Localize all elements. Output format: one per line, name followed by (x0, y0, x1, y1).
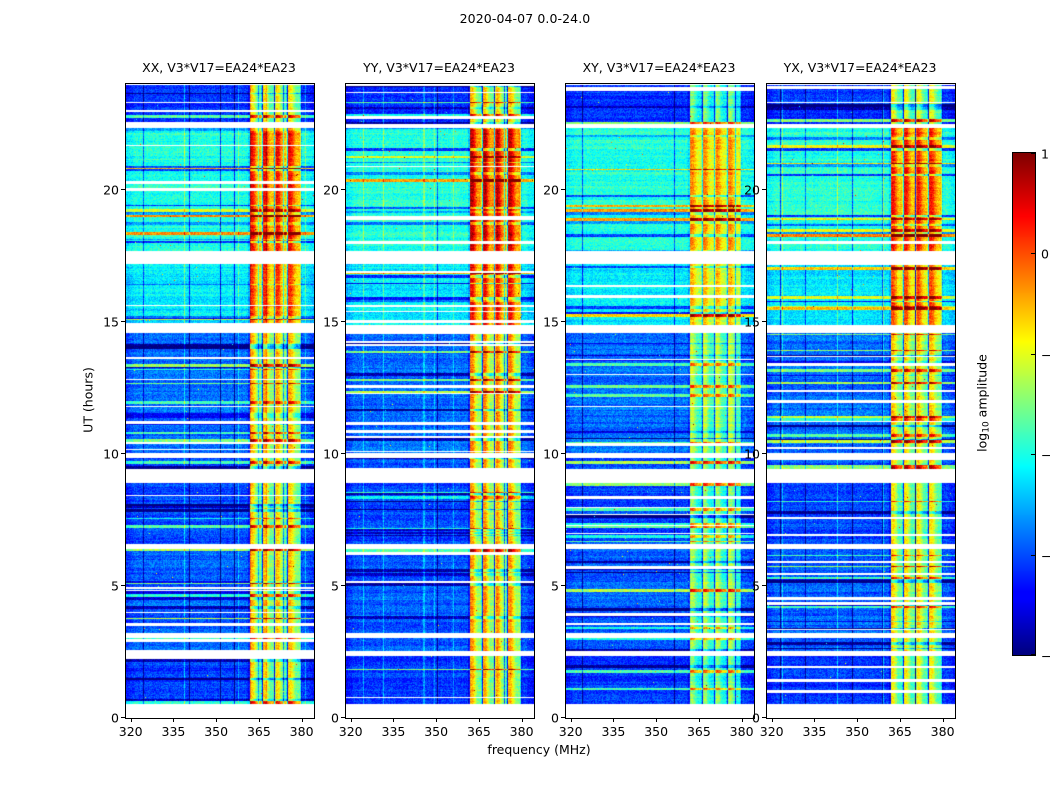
y-tick-mark (561, 189, 565, 190)
y-tick-mark (762, 585, 766, 586)
x-tick-label-xy-380: 380 (730, 724, 754, 739)
y-tick-mark (762, 717, 766, 718)
x-tick-mark (436, 718, 437, 722)
waterfall-canvas-yx (767, 84, 955, 718)
y-tick-label-yx-5: 5 (752, 578, 760, 593)
x-tick-label-yx-335: 335 (802, 724, 826, 739)
colorbar-tick-mark (1031, 654, 1035, 655)
y-tick-mark (341, 453, 345, 454)
colorbar-tick-mark (1031, 555, 1035, 556)
colorbar-tick-label-1: 0 (1041, 247, 1049, 262)
x-tick-label-yx-365: 365 (888, 724, 912, 739)
waterfall-yx[interactable] (766, 83, 956, 719)
y-tick-label-yx-20: 20 (744, 182, 760, 197)
x-tick-label-xy-320: 320 (559, 724, 583, 739)
panel-title-yy: YY, V3*V17=EA24*EA23 (363, 60, 515, 75)
x-tick-label-yx-320: 320 (760, 724, 784, 739)
y-tick-mark (762, 189, 766, 190)
x-tick-label-xx-335: 335 (161, 724, 185, 739)
x-tick-label-yy-365: 365 (467, 724, 491, 739)
x-tick-mark (814, 718, 815, 722)
colorbar-tick-mark (1031, 354, 1035, 355)
x-tick-label-yy-350: 350 (424, 724, 448, 739)
y-tick-label-xx-5: 5 (111, 578, 119, 593)
colorbar-label-subscript: 10 (982, 421, 992, 432)
x-tick-label-xy-335: 335 (601, 724, 625, 739)
y-tick-label-xy-10: 10 (543, 446, 559, 461)
y-tick-label-yx-10: 10 (744, 446, 760, 461)
colorbar-label: log10 amplitude (975, 354, 990, 452)
waterfall-canvas-yy (346, 84, 534, 718)
x-tick-mark (571, 718, 572, 722)
waterfall-canvas-xx (126, 84, 314, 718)
waterfall-canvas-xy (566, 84, 754, 718)
figure-suptitle: 2020-04-07 0.0-24.0 (0, 11, 1050, 26)
x-tick-label-yy-335: 335 (381, 724, 405, 739)
y-tick-mark (121, 189, 125, 190)
y-tick-label-yy-5: 5 (331, 578, 339, 593)
panel-xx: XX, V3*V17=EA24*EA2305101520320335350365… (125, 83, 313, 717)
x-tick-label-xx-380: 380 (290, 724, 314, 739)
y-tick-label-xy-5: 5 (551, 578, 559, 593)
colorbar-tick-label-3: −2 (1041, 448, 1050, 463)
colorbar-gradient (1013, 153, 1035, 655)
y-tick-label-yy-15: 15 (323, 314, 339, 329)
y-tick-mark (561, 717, 565, 718)
y-tick-mark (341, 717, 345, 718)
colorbar-tick-label-2: −1 (1041, 347, 1050, 362)
x-tick-mark (699, 718, 700, 722)
x-tick-label-yy-380: 380 (510, 724, 534, 739)
y-tick-label-xy-15: 15 (543, 314, 559, 329)
panel-title-xy: XY, V3*V17=EA24*EA23 (583, 60, 736, 75)
y-tick-label-xx-20: 20 (103, 182, 119, 197)
y-tick-mark (121, 717, 125, 718)
waterfall-xx[interactable] (125, 83, 315, 719)
x-tick-mark (259, 718, 260, 722)
x-tick-mark (302, 718, 303, 722)
panel-yy: YY, V3*V17=EA24*EA2305101520320335350365… (345, 83, 533, 717)
panel-yx: YX, V3*V17=EA24*EA2305101520320335350365… (766, 83, 954, 717)
y-tick-mark (341, 585, 345, 586)
x-tick-mark (857, 718, 858, 722)
y-tick-mark (341, 321, 345, 322)
figure-root: 2020-04-07 0.0-24.0 UT (hours) frequency… (0, 0, 1050, 800)
x-tick-mark (943, 718, 944, 722)
waterfall-xy[interactable] (565, 83, 755, 719)
panel-xy: XY, V3*V17=EA24*EA2305101520320335350365… (565, 83, 753, 717)
x-tick-label-yy-320: 320 (339, 724, 363, 739)
x-tick-label-yx-380: 380 (931, 724, 955, 739)
colorbar-tick-label-5: −4 (1041, 649, 1050, 664)
x-tick-label-yx-350: 350 (845, 724, 869, 739)
colorbar-tick-mark (1031, 153, 1035, 154)
y-tick-mark (121, 321, 125, 322)
x-tick-mark (613, 718, 614, 722)
panel-title-xx: XX, V3*V17=EA24*EA23 (142, 60, 296, 75)
x-tick-mark (772, 718, 773, 722)
x-tick-mark (656, 718, 657, 722)
y-tick-label-yy-20: 20 (323, 182, 339, 197)
x-tick-label-xx-350: 350 (204, 724, 228, 739)
y-tick-mark (341, 189, 345, 190)
colorbar-tick-label-4: −3 (1041, 548, 1050, 563)
x-tick-mark (742, 718, 743, 722)
x-tick-label-xy-350: 350 (644, 724, 668, 739)
colorbar-label-tail: amplitude (975, 354, 990, 421)
y-tick-label-yx-15: 15 (744, 314, 760, 329)
x-tick-mark (479, 718, 480, 722)
y-tick-label-xx-15: 15 (103, 314, 119, 329)
y-tick-mark (561, 453, 565, 454)
x-tick-mark (131, 718, 132, 722)
y-tick-label-xx-10: 10 (103, 446, 119, 461)
y-axis-label: UT (hours) (81, 367, 96, 433)
colorbar[interactable]: 10−1−2−3−4 (1012, 152, 1036, 656)
y-tick-mark (561, 321, 565, 322)
colorbar-tick-mark (1031, 454, 1035, 455)
x-tick-label-xy-365: 365 (687, 724, 711, 739)
x-tick-mark (900, 718, 901, 722)
colorbar-tick-mark (1031, 253, 1035, 254)
y-tick-label-yy-10: 10 (323, 446, 339, 461)
x-tick-label-xx-365: 365 (247, 724, 271, 739)
colorbar-label-base: log (975, 433, 990, 452)
y-tick-mark (762, 453, 766, 454)
colorbar-tick-label-0: 1 (1041, 147, 1049, 162)
waterfall-yy[interactable] (345, 83, 535, 719)
x-tick-label-xx-320: 320 (119, 724, 143, 739)
panel-title-yx: YX, V3*V17=EA24*EA23 (784, 60, 937, 75)
y-tick-mark (762, 321, 766, 322)
x-tick-mark (393, 718, 394, 722)
x-tick-mark (351, 718, 352, 722)
y-tick-mark (121, 585, 125, 586)
y-tick-label-xy-20: 20 (543, 182, 559, 197)
x-tick-mark (522, 718, 523, 722)
y-tick-mark (121, 453, 125, 454)
x-axis-label: frequency (MHz) (487, 742, 590, 757)
x-tick-mark (216, 718, 217, 722)
y-tick-mark (561, 585, 565, 586)
x-tick-mark (173, 718, 174, 722)
